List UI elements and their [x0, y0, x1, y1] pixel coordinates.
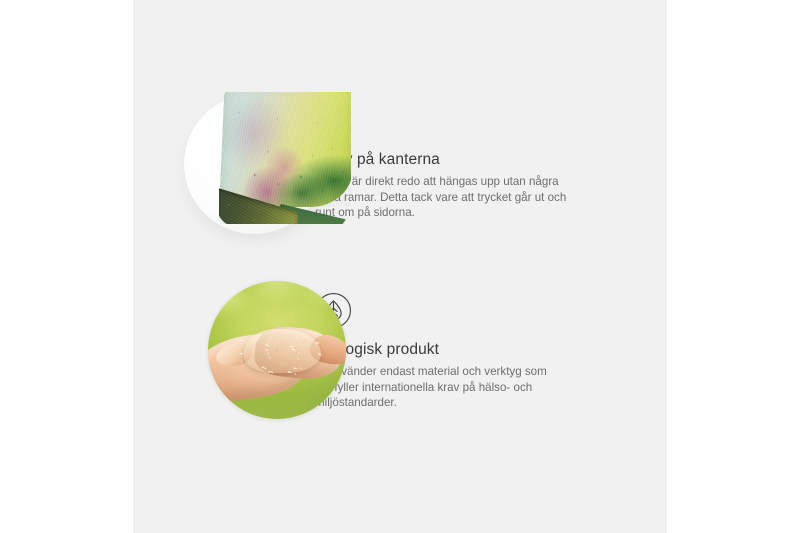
photo-circle	[208, 281, 346, 419]
wood-chips-pile	[244, 329, 321, 373]
feature-block-ekologisk-produkt: Ekologisk produkt Vi använder endast mat…	[133, 268, 611, 446]
feature-block-motiv-pa-kanterna: Motiv på kanterna Tavlan är direkt redo …	[133, 78, 611, 256]
canvas-print-on-white-plate-photo	[133, 78, 311, 256]
feature-title: Motiv på kanterna	[315, 150, 611, 169]
canvas-front-face	[219, 92, 351, 208]
hands-holding-wood-chips-photo	[133, 268, 311, 446]
feature-body: Vi använder endast material och verktyg …	[315, 364, 581, 411]
feature-copy: Motiv på kanterna Tavlan är direkt redo …	[315, 78, 611, 221]
feature-title: Ekologisk produkt	[315, 340, 611, 359]
feature-body: Tavlan är direkt redo att hängas upp uta…	[315, 174, 581, 221]
canvas-print-block	[219, 92, 351, 224]
product-feature-banner: Motiv på kanterna Tavlan är direkt redo …	[0, 0, 800, 533]
feature-copy: Ekologisk produkt Vi använder endast mat…	[315, 268, 611, 411]
